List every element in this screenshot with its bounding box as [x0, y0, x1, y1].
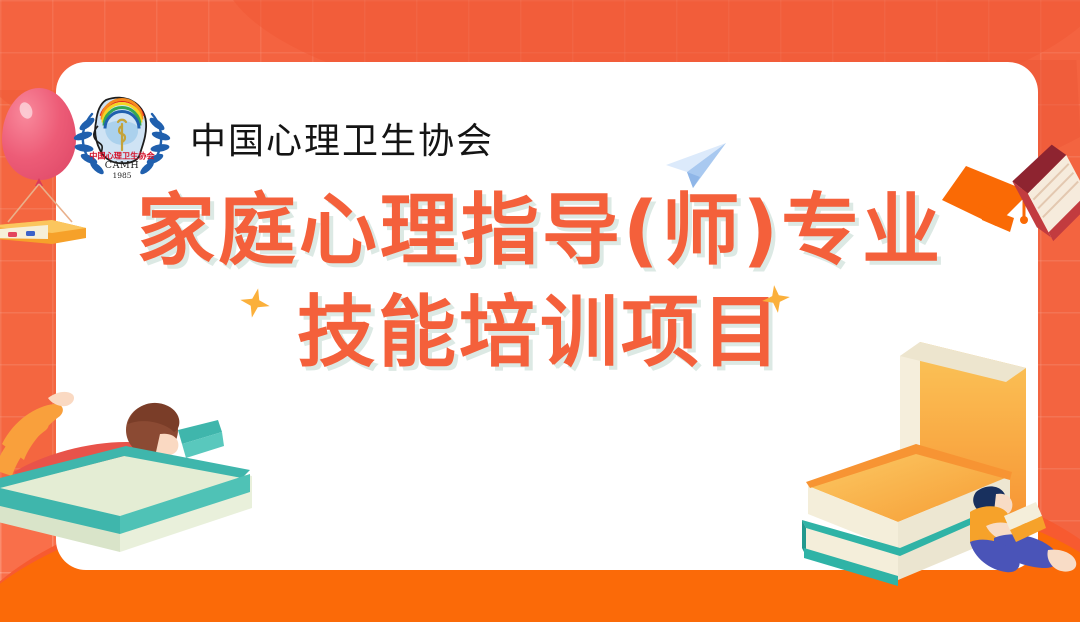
emblem-acronym: CAMH	[105, 160, 140, 171]
emblem-org-text: 中国心理卫生协会	[89, 151, 155, 161]
book-stack-with-seated-reader-illustration	[790, 330, 1080, 598]
emblem-year: 1985	[112, 171, 131, 180]
reader-lying-on-book-illustration	[0, 384, 322, 574]
organization-name: 中国心理卫生协会	[190, 112, 494, 164]
title-line-1: 家庭心理指导(师)专业	[0, 186, 1080, 276]
logo-lockup: 中国心理卫生协会 CAMH 1985 中国心理卫生协会	[72, 88, 494, 188]
poster-canvas: 中国心理卫生协会 CAMH 1985 中国心理卫生协会 家庭心理指导(师)专业 …	[0, 0, 1080, 622]
balloon-icon	[2, 88, 76, 180]
camh-emblem-icon: 中国心理卫生协会 CAMH 1985	[72, 88, 172, 188]
